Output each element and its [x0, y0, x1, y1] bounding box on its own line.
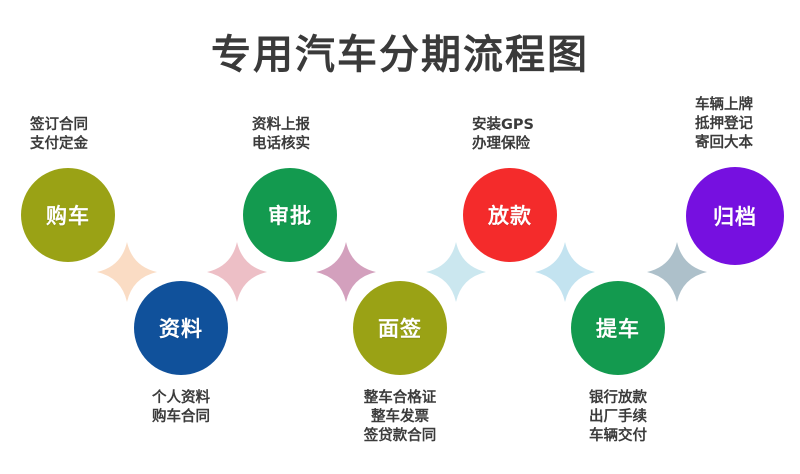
caption-line: 电话核实	[252, 135, 310, 154]
caption-line: 车辆交付	[589, 427, 647, 446]
node-circle-面签[interactable]	[353, 281, 447, 375]
caption-line: 出厂手续	[589, 408, 647, 427]
node-circle-提车[interactable]	[571, 281, 665, 375]
node-caption-提车: 银行放款出厂手续车辆交付	[589, 389, 647, 446]
node-circle-购车[interactable]	[21, 168, 115, 262]
node-circle-归档[interactable]	[686, 167, 784, 265]
node-circle-资料[interactable]	[134, 281, 228, 375]
node-caption-审批: 资料上报电话核实	[252, 116, 310, 154]
node-caption-面签: 整车合格证整车发票签贷款合同	[364, 389, 437, 446]
node-circle-审批[interactable]	[243, 168, 337, 262]
node-caption-购车: 签订合同支付定金	[30, 116, 88, 154]
caption-line: 办理保险	[472, 135, 534, 154]
caption-line: 资料上报	[252, 116, 310, 135]
caption-line: 签订合同	[30, 116, 88, 135]
node-circle-放款[interactable]	[463, 168, 557, 262]
flowchart-canvas: 专用汽车分期流程图 购车资料审批面签放款提车归档 签订合同支付定金个人资料购车合…	[0, 0, 800, 474]
caption-line: 购车合同	[152, 408, 210, 427]
caption-line: 安装GPS	[472, 116, 534, 135]
caption-line: 车辆上牌	[695, 96, 753, 115]
caption-line: 寄回大本	[695, 134, 753, 153]
node-caption-放款: 安装GPS办理保险	[472, 116, 534, 154]
caption-line: 银行放款	[589, 389, 647, 408]
node-caption-资料: 个人资料购车合同	[152, 389, 210, 427]
caption-line: 签贷款合同	[364, 427, 437, 446]
caption-line: 支付定金	[30, 135, 88, 154]
caption-line: 个人资料	[152, 389, 210, 408]
caption-line: 抵押登记	[695, 115, 753, 134]
node-caption-归档: 车辆上牌抵押登记寄回大本	[695, 96, 753, 153]
caption-line: 整车合格证	[364, 389, 437, 408]
caption-line: 整车发票	[364, 408, 437, 427]
